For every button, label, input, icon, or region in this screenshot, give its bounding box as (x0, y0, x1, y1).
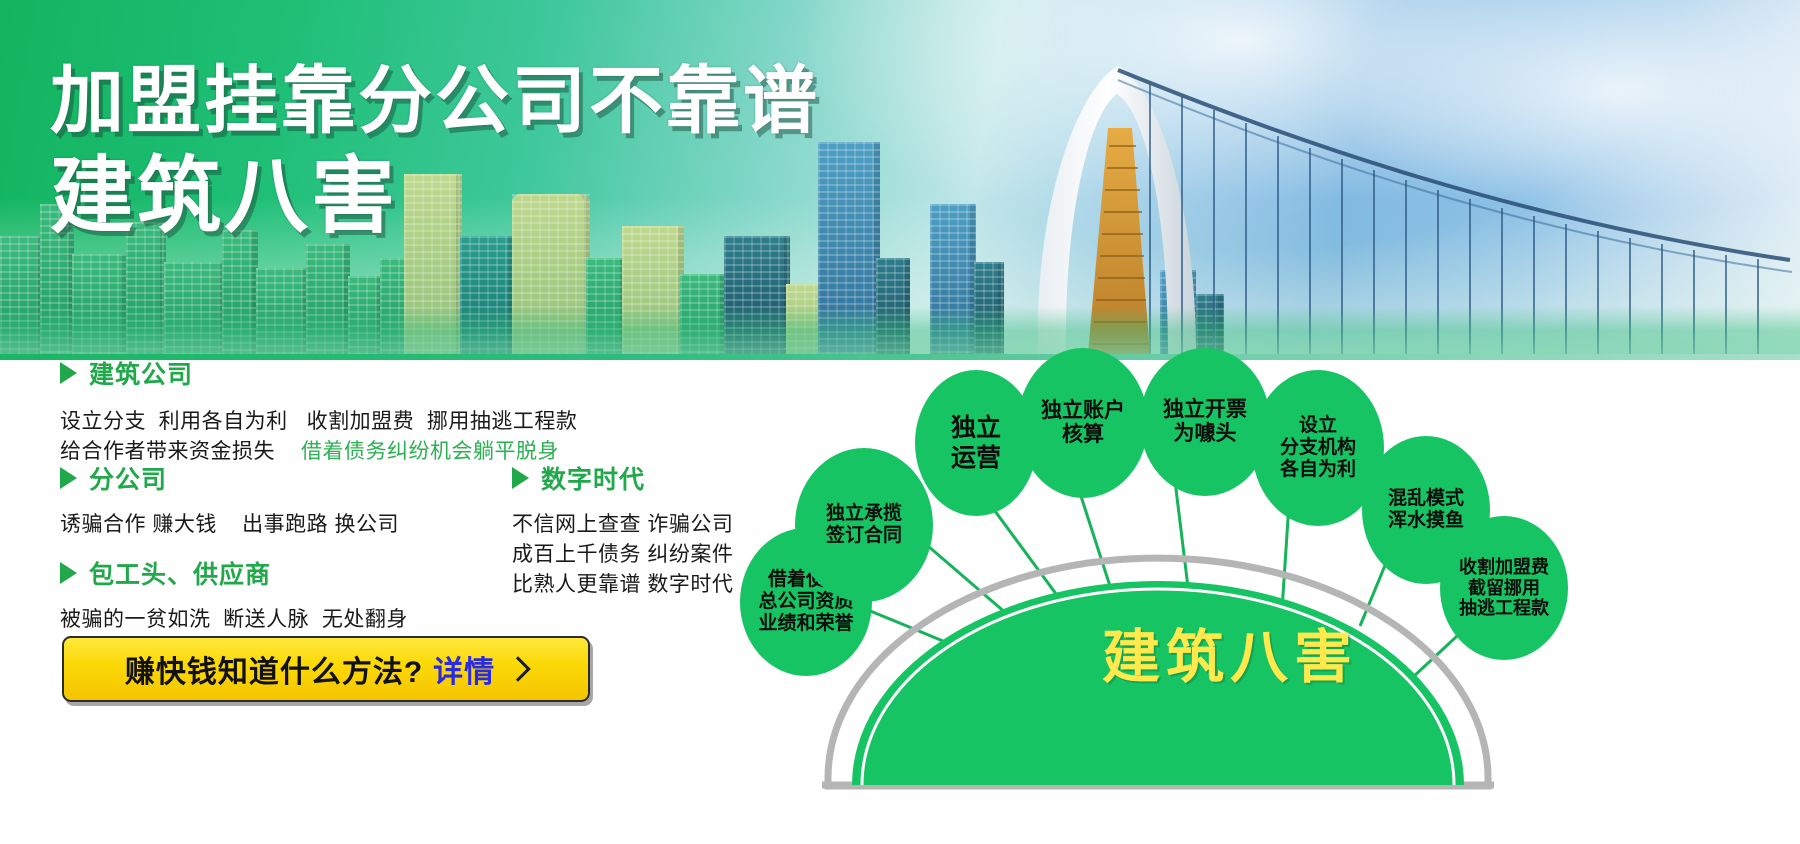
section-title: 建筑公司 (89, 355, 193, 391)
cta-button[interactable]: 赚快钱知道什么方法? 详情 (62, 636, 590, 702)
body-line: 成百上千债务 纠纷案件 (512, 540, 733, 570)
hero-headline-line2: 建筑八害 (50, 154, 820, 238)
body-line: 被骗的一贫如洗 断送人脉 无处翻身 (60, 605, 408, 635)
triangle-bullet-icon (60, 362, 77, 384)
bubble-label: 混乱模式 浑水摸鱼 (1388, 488, 1464, 532)
section-title: 包工头、供应商 (89, 555, 271, 591)
poster-root: 加盟挂靠分公司不靠谱 建筑八害 建筑公司 设立分支 利用各自为利 收割加盟费 挪… (0, 0, 1800, 844)
hero-banner: 加盟挂靠分公司不靠谱 建筑八害 (0, 0, 1800, 360)
triangle-bullet-icon (60, 467, 77, 489)
bubble-label: 独立开票 为噱头 (1163, 398, 1247, 447)
bubble-label: 收割加盟费 截留挪用 抽逃工程款 (1459, 557, 1549, 620)
section-branch-company: 分公司 诱骗合作 赚大钱 出事跑路 换公司 (60, 460, 399, 540)
section-title: 分公司 (89, 460, 167, 496)
bubble-2[interactable]: 独立承揽 签订合同 (795, 448, 933, 602)
bubble-label: 独立承揽 签订合同 (826, 503, 902, 547)
section-body: 被骗的一贫如洗 断送人脉 无处翻身 (60, 605, 408, 635)
cta-link-label[interactable]: 详情 (433, 647, 495, 691)
section-title: 数字时代 (541, 460, 645, 496)
section-construction-company: 建筑公司 设立分支 利用各自为利 收割加盟费 挪用抽逃工程款 给合作者带来资金损… (60, 355, 577, 467)
section-body: 设立分支 利用各自为利 收割加盟费 挪用抽逃工程款 给合作者带来资金损失 借着债… (60, 407, 577, 467)
section-body: 诱骗合作 赚大钱 出事跑路 换公司 (60, 510, 399, 540)
section-heading: 建筑公司 (60, 355, 577, 391)
chevron-right-icon (505, 656, 530, 681)
left-content-column: 建筑公司 设立分支 利用各自为利 收割加盟费 挪用抽逃工程款 给合作者带来资金损… (0, 360, 800, 844)
bubble-label: 独立账户 核算 (1041, 399, 1125, 448)
body-line: 设立分支 利用各自为利 收割加盟费 挪用抽逃工程款 (60, 407, 577, 437)
section-heading: 分公司 (60, 460, 399, 496)
body-line: 诱骗合作 赚大钱 出事跑路 换公司 (60, 510, 399, 540)
triangle-bullet-icon (512, 467, 529, 489)
triangle-bullet-icon (60, 562, 77, 584)
cta-main-label: 赚快钱知道什么方法? (125, 647, 423, 691)
bubble-3[interactable]: 独立 运营 (915, 370, 1037, 516)
bubble-label: 独立 运营 (951, 413, 1001, 474)
bubble-label: 设立 分支机构 各自为利 (1280, 415, 1356, 481)
body-line: 比熟人更靠谱 数字时代 (512, 570, 733, 600)
hero-headline-line1: 加盟挂靠分公司不靠谱 (50, 64, 820, 138)
section-contractor-supplier: 包工头、供应商 被骗的一贫如洗 断送人脉 无处翻身 (60, 555, 408, 635)
bubble-5[interactable]: 独立开票 为噱头 (1140, 348, 1270, 496)
bubble-8[interactable]: 收割加盟费 截留挪用 抽逃工程款 (1440, 516, 1568, 660)
section-heading: 数字时代 (512, 460, 733, 496)
section-digital-era: 数字时代 不信网上查查 诈骗公司 成百上千债务 纠纷案件 比熟人更靠谱 数字时代 (512, 460, 733, 599)
section-heading: 包工头、供应商 (60, 555, 408, 591)
bubble-4[interactable]: 独立账户 核算 (1018, 348, 1148, 498)
body-line: 不信网上查查 诈骗公司 (512, 510, 733, 540)
hero-title-block: 加盟挂靠分公司不靠谱 建筑八害 (50, 64, 820, 238)
dome-label: 建筑八害 (965, 610, 1495, 694)
section-body: 不信网上查查 诈骗公司 成百上千债务 纠纷案件 比熟人更靠谱 数字时代 (512, 510, 733, 599)
bagua-diagram: 建筑八害 借着使用 总公司资质 业绩和荣誉 独立承揽 签订合同 独立 运营 独立… (800, 348, 1800, 844)
